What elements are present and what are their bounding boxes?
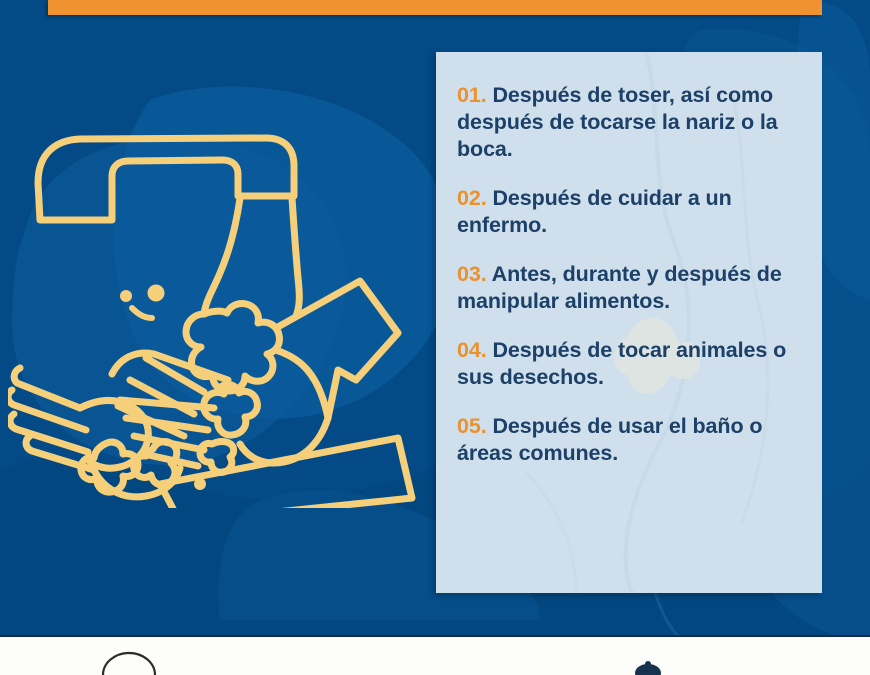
item-text: Después de tocar animales o sus desechos… xyxy=(457,338,786,389)
handwashing-illustration xyxy=(8,118,418,508)
item-text: Antes, durante y después de manipular al… xyxy=(457,262,782,313)
orange-divider-bar xyxy=(48,0,822,15)
item-number: 05. xyxy=(457,414,487,438)
item-number: 03. xyxy=(457,262,487,286)
item-number: 01. xyxy=(457,83,487,107)
moments-list-panel: 01. Después de toser, así como después d… xyxy=(436,52,822,593)
list-item: 05. Después de usar el baño o áreas comu… xyxy=(457,413,800,467)
moments-list: 01. Después de toser, así como después d… xyxy=(436,52,822,487)
item-text: Después de usar el baño o áreas comunes. xyxy=(457,414,762,465)
item-text: Después de toser, así como después de to… xyxy=(457,83,778,161)
item-text: Después de cuidar a un enfermo. xyxy=(457,186,732,237)
item-number: 02. xyxy=(457,186,487,210)
item-number: 04. xyxy=(457,338,487,362)
list-item: 03. Antes, durante y después de manipula… xyxy=(457,261,800,315)
list-item: 02. Después de cuidar a un enfermo. xyxy=(457,185,800,239)
partial-icon-left xyxy=(94,641,164,675)
poster-root: 01. Después de toser, así como después d… xyxy=(0,0,870,675)
list-item: 04. Después de tocar animales o sus dese… xyxy=(457,337,800,391)
footer-strip xyxy=(0,635,870,675)
partial-icon-right xyxy=(618,641,678,675)
list-item: 01. Después de toser, así como después d… xyxy=(457,82,800,163)
